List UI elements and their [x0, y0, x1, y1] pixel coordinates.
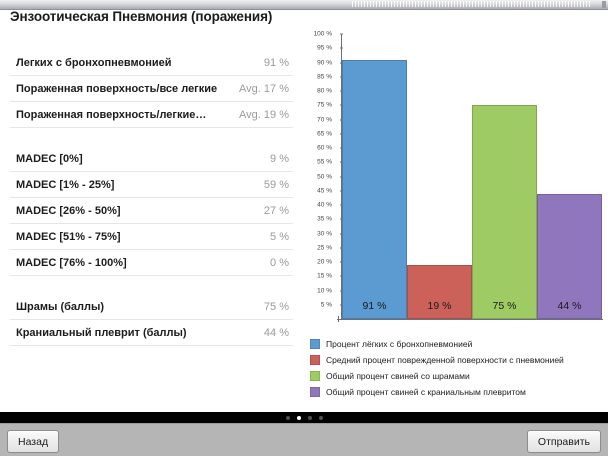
results-group: MADEC [0%]9 %MADEC [1% - 25%]59 %MADEC [… — [10, 146, 293, 276]
list-item[interactable]: Пораженная поверхность/все легкиеAvg. 17… — [10, 76, 293, 102]
app-root: Энзоотическая Пневмония (поражения) Легк… — [0, 0, 608, 456]
y-axis-tick-label: 65 % — [317, 130, 332, 137]
chart-bar-value-label: 75 % — [473, 300, 536, 312]
y-axis-tick-label: 75 % — [317, 102, 332, 109]
x-axis-line — [337, 319, 603, 320]
list-item-value: 59 % — [264, 179, 289, 191]
legend-label: Средний процент поврежденной поверхности… — [326, 355, 564, 365]
legend-swatch-icon — [310, 387, 320, 397]
pagination-bar — [0, 412, 608, 423]
list-item-label: Пораженная поверхность/все легкие — [16, 83, 217, 95]
pagination-dot-active[interactable] — [297, 416, 301, 420]
y-axis-tick-label: 50 % — [317, 173, 332, 180]
list-item-value: 0 % — [270, 257, 289, 269]
legend-item[interactable]: Общий процент свиней со шрамами — [310, 368, 605, 384]
list-item[interactable]: MADEC [76% - 100%]0 % — [10, 250, 293, 276]
list-item[interactable]: Легких с бронхопневмонией91 % — [10, 50, 293, 76]
list-item[interactable]: MADEC [26% - 50%]27 % — [10, 198, 293, 224]
chart-bar-value-label: 91 % — [343, 300, 406, 312]
legend-item[interactable]: Средний процент поврежденной поверхности… — [310, 352, 605, 368]
bar-series: 91 %19 %75 %44 % — [342, 34, 602, 319]
list-item[interactable]: MADEC [51% - 75%]5 % — [10, 224, 293, 250]
legend-swatch-icon — [310, 371, 320, 381]
list-item-value: 5 % — [270, 231, 289, 243]
back-button[interactable]: Назад — [7, 430, 59, 453]
y-axis-tick-label: 100 % — [314, 31, 332, 38]
list-item-value: 75 % — [264, 301, 289, 313]
x-axis-origin-tick — [338, 316, 339, 322]
list-item-label: MADEC [1% - 25%] — [16, 179, 114, 191]
list-item-label: MADEC [0%] — [16, 153, 83, 165]
y-axis-tick-label: 20 % — [317, 259, 332, 266]
list-item-label: Легких с бронхопневмонией — [16, 57, 172, 69]
list-item-value: Avg. 19 % — [239, 109, 289, 121]
y-axis-tick-label: 55 % — [317, 159, 332, 166]
chart-bar[interactable]: 75 % — [472, 105, 537, 319]
legend-item[interactable]: Процент лёгких с бронхопневмонией — [310, 336, 605, 352]
legend-item[interactable]: Общий процент свиней с краниальным плевр… — [310, 384, 605, 400]
chart: 100 %95 %90 %85 %80 %75 %70 %65 %60 %55 … — [300, 28, 605, 406]
legend-swatch-icon — [310, 355, 320, 365]
list-item[interactable]: MADEC [1% - 25%]59 % — [10, 172, 293, 198]
results-group: Легких с бронхопневмонией91 %Пораженная … — [10, 50, 293, 128]
pagination-dots[interactable] — [286, 416, 323, 420]
chart-plot-area: 100 %95 %90 %85 %80 %75 %70 %65 %60 %55 … — [300, 28, 605, 328]
chart-bar-value-label: 19 % — [408, 300, 471, 312]
y-axis-tick-label: 80 % — [317, 88, 332, 95]
group-separator — [10, 276, 293, 294]
legend-label: Процент лёгких с бронхопневмонией — [326, 339, 472, 349]
list-item-value: Avg. 17 % — [239, 83, 289, 95]
pagination-dot[interactable] — [319, 416, 323, 420]
list-item-label: MADEC [51% - 75%] — [16, 231, 121, 243]
y-axis-tick-label: 30 % — [317, 230, 332, 237]
list-item-value: 91 % — [264, 57, 289, 69]
y-axis-tick-label: 35 % — [317, 216, 332, 223]
list-item-label: MADEC [26% - 50%] — [16, 205, 121, 217]
y-axis-tick-label: 15 % — [317, 273, 332, 280]
y-axis-tick-label: 10 % — [317, 287, 332, 294]
list-item[interactable]: Краниальный плеврит (баллы)44 % — [10, 320, 293, 346]
submit-button[interactable]: Отправить — [527, 430, 601, 453]
list-item-label: Пораженная поверхность/легкие… — [16, 109, 206, 121]
y-axis-tick-label: 25 % — [317, 244, 332, 251]
list-item-value: 27 % — [264, 205, 289, 217]
list-item[interactable]: Шрамы (баллы)75 % — [10, 294, 293, 320]
results-list: Легких с бронхопневмонией91 %Пораженная … — [10, 50, 293, 346]
legend-label: Общий процент свиней с краниальным плевр… — [326, 387, 526, 397]
y-axis-tick-label: 95 % — [317, 45, 332, 52]
y-axis-tick-label: 70 % — [317, 116, 332, 123]
legend-swatch-icon — [310, 339, 320, 349]
scrollbar-thumb[interactable] — [602, 1, 606, 8]
chart-bar[interactable]: 19 % — [407, 265, 472, 319]
list-item-value: 44 % — [264, 327, 289, 339]
y-axis-tick-label: 90 % — [317, 59, 332, 66]
chart-bar[interactable]: 44 % — [537, 194, 602, 319]
y-axis-tick-label: 60 % — [317, 145, 332, 152]
list-item-label: Шрамы (баллы) — [16, 301, 104, 313]
y-axis-tick-label: 40 % — [317, 202, 332, 209]
y-axis-tick-label: 45 % — [317, 187, 332, 194]
results-group: Шрамы (баллы)75 %Краниальный плеврит (ба… — [10, 294, 293, 346]
list-item-label: MADEC [76% - 100%] — [16, 257, 127, 269]
chart-bar[interactable]: 91 % — [342, 60, 407, 319]
y-axis-tick-label: 85 % — [317, 73, 332, 80]
scrollbar-track[interactable] — [352, 1, 590, 7]
legend-label: Общий процент свиней со шрамами — [326, 371, 470, 381]
footer-toolbar: Назад Отправить — [0, 423, 608, 456]
y-axis-tick-label: 5 % — [321, 301, 332, 308]
list-item[interactable]: Пораженная поверхность/легкие…Avg. 19 % — [10, 102, 293, 128]
pagination-dot[interactable] — [308, 416, 312, 420]
list-item-value: 9 % — [270, 153, 289, 165]
group-separator — [10, 128, 293, 146]
chart-bar-value-label: 44 % — [538, 300, 601, 312]
pagination-dot[interactable] — [286, 416, 290, 420]
y-axis: 100 %95 %90 %85 %80 %75 %70 %65 %60 %55 … — [300, 28, 336, 318]
list-item-label: Краниальный плеврит (баллы) — [16, 327, 187, 339]
chart-legend: Процент лёгких с бронхопневмониейСредний… — [310, 336, 605, 400]
page-title: Энзоотическая Пневмония (поражения) — [10, 9, 310, 24]
list-item[interactable]: MADEC [0%]9 % — [10, 146, 293, 172]
